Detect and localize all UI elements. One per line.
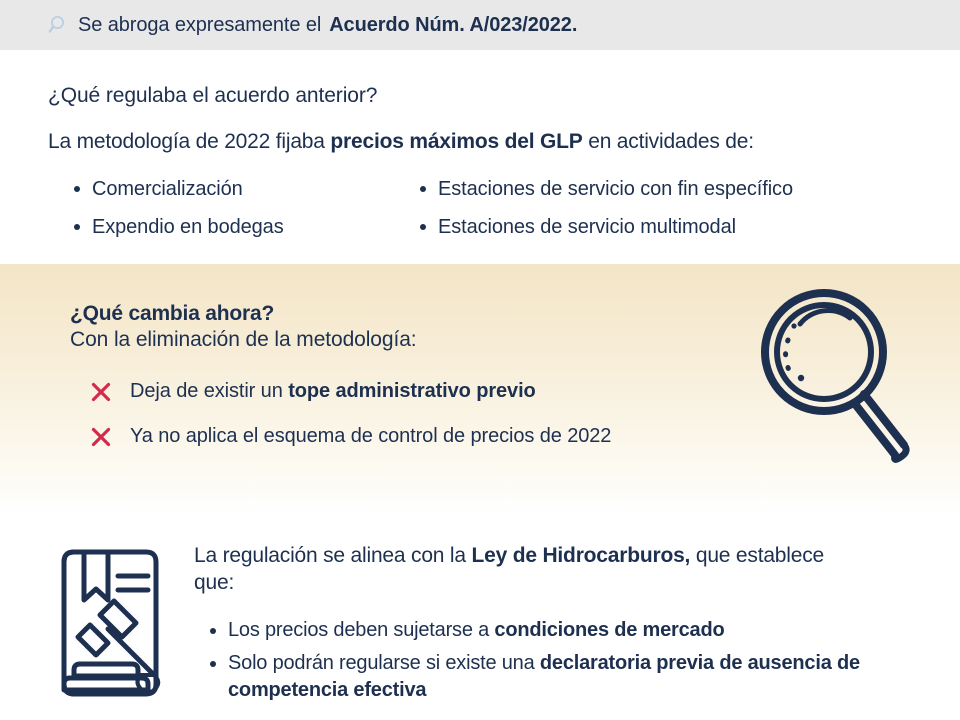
list-item: Estaciones de servicio con fin específic… [408,170,912,208]
previous-lead-prefix: La metodología de 2022 fijaba [48,130,330,153]
previous-bullets-left: Comercialización Expendio en bodegas [48,170,408,246]
header-statement: Se abroga expresamente el Acuerdo Núm. A… [48,14,577,37]
bullet-dot-icon [420,224,426,230]
bullet-dot-icon [210,661,216,667]
list-item-label: Comercialización [92,170,243,208]
law-bullet-prefix: Solo podrán regularse si existe una [228,652,540,674]
section-law-alignment: La regulación se alinea con la Ley de Hi… [0,514,960,720]
list-item: Solo podrán regularse si existe una decl… [194,650,912,704]
bullet-dot-icon [74,224,80,230]
previous-lead-bold: precios máximos del GLP [330,130,582,153]
section-previous-agreement: ¿Qué regulaba el acuerdo anterior? La me… [0,50,960,264]
previous-lead: La metodología de 2022 fijaba precios má… [48,130,912,154]
magnifier-large-icon [752,282,922,472]
x-mark-icon [90,381,112,403]
list-item-label: Estaciones de servicio con fin específic… [438,170,793,208]
section-what-changes: ¿Qué cambia ahora? Con la eliminación de… [0,264,960,514]
header-band: Se abroga expresamente el Acuerdo Núm. A… [0,0,960,50]
infographic-page: Se abroga expresamente el Acuerdo Núm. A… [0,0,960,720]
list-item: Los precios deben sujetarse a condicione… [194,617,912,644]
bullet-dot-icon [210,628,216,634]
list-item-label: Solo podrán regularse si existe una decl… [228,650,912,704]
law-bullet-bold: condiciones de mercado [494,619,724,641]
list-item-label: Ya no aplica el esquema de control de pr… [130,425,611,448]
previous-question: ¿Qué regulaba el acuerdo anterior? [48,84,912,108]
header-text-bold: Acuerdo Núm. A/023/2022. [329,14,577,37]
list-item: Comercialización [48,170,408,208]
bullet-dot-icon [420,186,426,192]
law-lead-prefix: La regulación se alinea con la [194,544,472,567]
x-mark-icon [90,426,112,448]
law-book-gavel-icon [50,544,168,702]
list-item-label: Estaciones de servicio multimodal [438,208,736,246]
bullet-dot-icon [74,186,80,192]
list-item-label: Expendio en bodegas [92,208,284,246]
previous-lead-suffix: en actividades de: [583,130,754,153]
magnifier-icon [48,14,70,36]
header-text-plain: Se abroga expresamente el [78,14,321,37]
law-bullet-prefix: Los precios deben sujetarse a [228,619,494,641]
change-bold: tope administrativo previo [288,380,535,402]
list-item-label: Los precios deben sujetarse a condicione… [228,617,725,644]
law-text-block: La regulación se alinea con la Ley de Hi… [194,538,912,710]
previous-bullets-right: Estaciones de servicio con fin específic… [408,170,912,246]
list-item: Expendio en bodegas [48,208,408,246]
change-prefix: Deja de existir un [130,380,288,402]
law-lead: La regulación se alinea con la Ley de Hi… [194,542,854,597]
previous-bullet-columns: Comercialización Expendio en bodegas Est… [48,170,912,246]
list-item: Estaciones de servicio multimodal [408,208,912,246]
list-item-label: Deja de existir un tope administrativo p… [130,380,536,403]
law-lead-bold: Ley de Hidrocarburos, [472,544,691,567]
